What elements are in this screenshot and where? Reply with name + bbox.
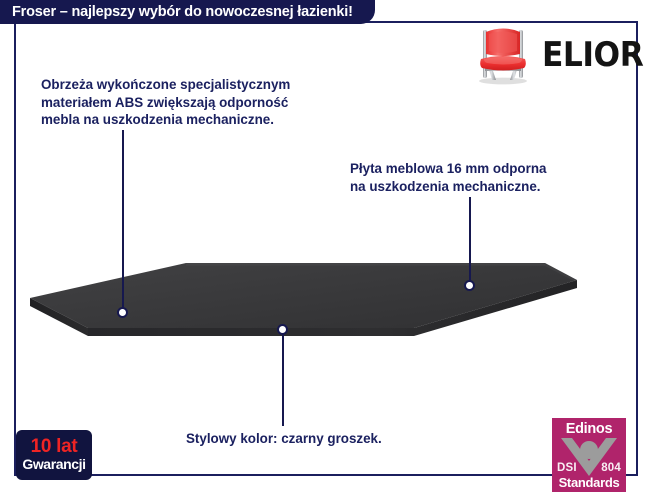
infographic-canvas: Froser – najlepszy wybór do nowoczesnej … — [0, 0, 650, 494]
callout-dot-board-thickness[interactable] — [464, 280, 475, 291]
brand-name: ELIOR — [542, 38, 643, 72]
callout-line-board-thickness — [469, 197, 471, 285]
warranty-badge: 10 lat Gwarancji — [16, 430, 92, 480]
callout-dot-edge-banding[interactable] — [117, 307, 128, 318]
callout-dot-color[interactable] — [277, 324, 288, 335]
callout-line-edge-banding — [122, 130, 124, 312]
edinos-standards-label: Standards — [552, 476, 626, 489]
warranty-label: Gwarancji — [22, 457, 85, 472]
caption-color: Stylowy kolor: czarny groszek. — [186, 430, 486, 448]
caption-board-thickness: Płyta meblowa 16 mm odporna na uszkodzen… — [350, 160, 630, 195]
callout-line-color — [282, 329, 284, 426]
red-chair-icon — [470, 24, 536, 86]
product-image-board — [18, 250, 578, 375]
edinos-name: Edinos — [552, 422, 626, 437]
frame-border-bottom — [14, 474, 638, 476]
brand-logo: ELIOR — [470, 24, 634, 86]
edinos-standard-code: DSI — [557, 463, 577, 475]
edinos-standard-number: 804 — [601, 463, 621, 475]
edinos-certificate-badge: Edinos DSI 804 Standards — [552, 418, 626, 492]
frame-border-left — [14, 21, 16, 476]
title-banner: Froser – najlepszy wybór do nowoczesnej … — [0, 0, 375, 24]
caption-edge-banding: Obrzeża wykończone specjalistycznym mate… — [41, 76, 401, 129]
warranty-years: 10 lat — [31, 437, 78, 456]
frame-border-right — [636, 21, 638, 476]
title-banner-text: Froser – najlepszy wybór do nowoczesnej … — [12, 5, 353, 20]
